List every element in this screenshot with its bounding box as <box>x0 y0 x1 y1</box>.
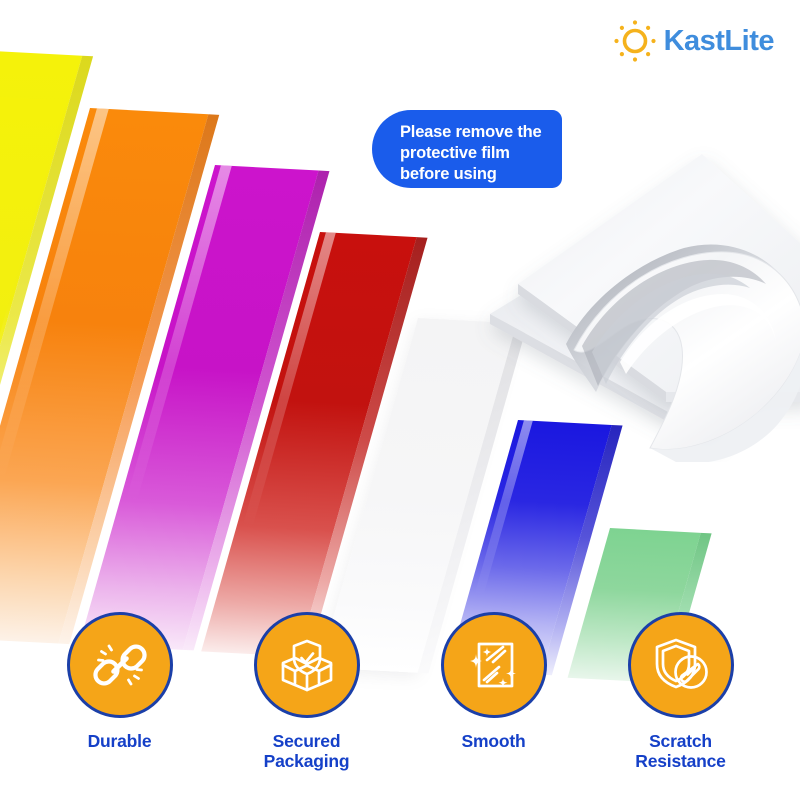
sheet-face <box>0 85 66 660</box>
sheet-edge <box>298 237 428 657</box>
feature-label: Scratch Resistance <box>635 731 725 772</box>
sheet-face <box>79 165 318 650</box>
shield-box-icon <box>275 633 339 697</box>
chain-link-icon <box>89 634 151 696</box>
sheet-face <box>201 232 416 657</box>
clear-sheet-back <box>490 210 800 444</box>
protective-film-peel <box>566 244 800 462</box>
feature-smooth: Smooth <box>410 612 578 752</box>
sheet-edge <box>58 114 219 644</box>
magenta-acrylic-sheet <box>79 165 318 650</box>
feature-durable: Durable <box>36 612 204 752</box>
brand-logo: KastLite <box>612 18 774 64</box>
feature-badge <box>67 612 173 718</box>
sheet-edge <box>0 56 93 646</box>
clear-sheet-front <box>518 154 800 402</box>
feature-secured-packaging: Secured Packaging <box>223 612 391 772</box>
feature-list: Durable Secured Packaging <box>0 612 800 772</box>
yellow-acrylic-sheet <box>0 45 82 645</box>
sheet-gloss <box>0 108 109 638</box>
feature-badge <box>254 612 360 718</box>
sheet-edge <box>183 170 330 650</box>
sheet-gloss <box>85 165 231 645</box>
sheet-face <box>0 108 208 644</box>
feature-badge <box>441 612 547 718</box>
red-acrylic-sheet <box>201 232 416 657</box>
feature-scratch-resistance: Scratch Resistance <box>597 612 765 772</box>
sheet-face <box>0 45 82 645</box>
feature-label: Secured Packaging <box>264 731 350 772</box>
brand-name: KastLite <box>664 25 774 58</box>
feature-badge <box>628 612 734 718</box>
shield-knife-icon <box>649 633 713 697</box>
yellow-acrylic-sheet-body <box>0 85 66 660</box>
feature-label: Durable <box>88 731 152 752</box>
feature-label: Smooth <box>462 731 526 752</box>
sparkle-panel-icon <box>463 634 525 696</box>
orange-acrylic-sheet <box>0 108 208 644</box>
sun-icon <box>612 18 658 64</box>
banner-text: Please remove the protective film before… <box>400 122 565 185</box>
product-image: Please remove the protective film before… <box>0 0 800 800</box>
sheet-gloss <box>207 232 335 652</box>
instruction-banner: Please remove the protective film before… <box>372 110 562 188</box>
